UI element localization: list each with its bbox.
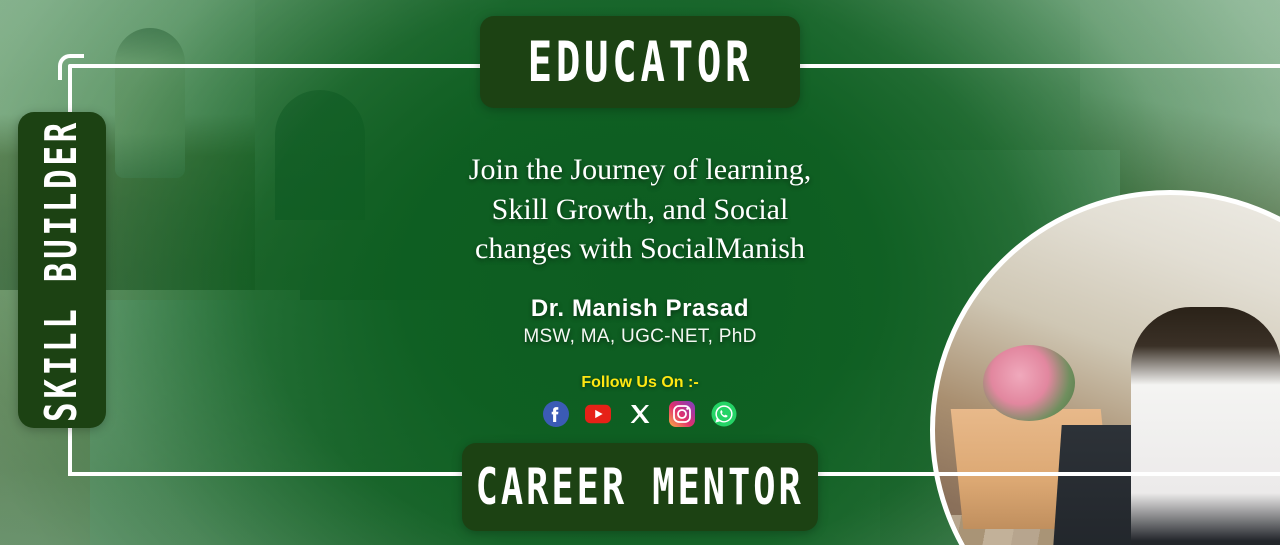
social-links [390,401,890,427]
x-twitter-icon[interactable] [627,401,653,427]
whatsapp-icon[interactable] [711,401,737,427]
youtube-icon[interactable] [585,401,611,427]
badge-educator: EDUCATOR [480,16,800,108]
badge-career-mentor-label: CAREER MENTOR [476,458,804,516]
person-name: Dr. Manish Prasad [390,295,890,323]
facebook-icon[interactable] [543,401,569,427]
center-content: Join the Journey of learning, Skill Grow… [390,150,890,427]
badge-career-mentor: CAREER MENTOR [462,443,818,531]
follow-us-label: Follow Us On :- [390,374,890,392]
tagline-line-2: Skill Growth, and Social [390,190,890,230]
circle-photo-speaker [1131,307,1280,545]
badge-skill-builder: SKILL BUILDER [18,112,106,428]
circle-photo-flowers [983,345,1075,421]
badge-skill-builder-label: SKILL BUILDER [37,119,88,422]
person-credentials: MSW, MA, UGC-NET, PhD [390,326,890,348]
tagline: Join the Journey of learning, Skill Grow… [390,150,890,269]
tagline-line-1: Join the Journey of learning, [390,150,890,190]
tagline-line-3: changes with SocialManish [390,229,890,269]
frame-corner-top-left [58,54,84,80]
banner-canvas: EDUCATOR CAREER MENTOR SKILL BUILDER Joi… [0,0,1280,545]
person-block: Dr. Manish Prasad MSW, MA, UGC-NET, PhD [390,295,890,348]
instagram-icon[interactable] [669,401,695,427]
badge-educator-label: EDUCATOR [527,30,753,94]
